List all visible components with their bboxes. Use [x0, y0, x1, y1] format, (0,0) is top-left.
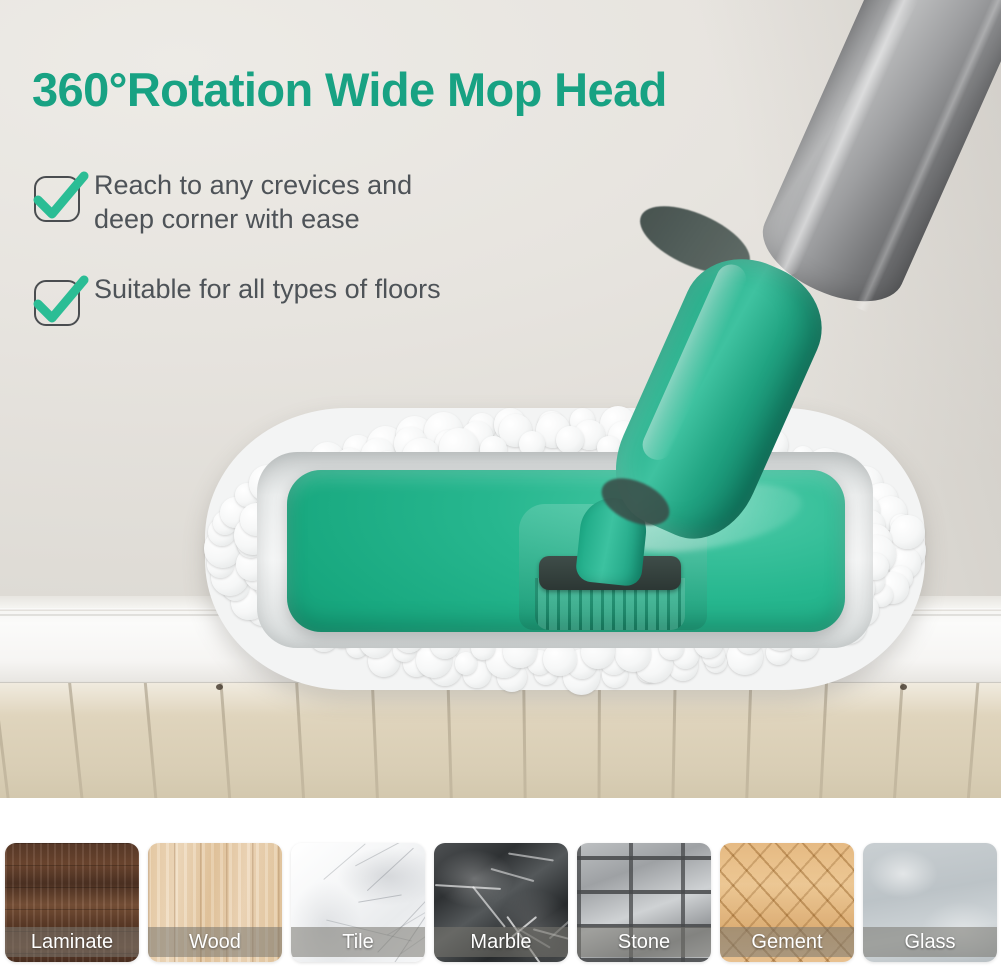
list-item: Suitable for all types of floors [30, 272, 590, 328]
surface-swatch-stone: Stone [577, 843, 711, 962]
swatch-label-bar: Glass [863, 927, 997, 957]
list-item: Reach to any crevices and deep corner wi… [30, 168, 590, 236]
chenille-tuft [556, 426, 584, 454]
list-item-label: Suitable for all types of floors [94, 272, 441, 306]
marble-vein [367, 848, 414, 891]
surface-swatch-marble: Marble [434, 843, 568, 962]
floor-plank-seam [597, 683, 601, 798]
mop-head-plate [287, 470, 845, 632]
swatch-label: Wood [189, 931, 241, 954]
marble-vein [472, 886, 506, 928]
wood-floor [0, 683, 1001, 798]
marble-vein [508, 852, 554, 861]
marble-vein [435, 885, 500, 890]
surface-swatch-glass: Glass [863, 843, 997, 962]
surface-swatch-wood: Wood [148, 843, 282, 962]
swatch-label: Glass [904, 931, 955, 954]
marble-vein [358, 894, 402, 902]
swatch-row: LaminateWoodTileMarbleStoneGementGlass [5, 843, 997, 962]
surface-swatch-tile: Tile [291, 843, 425, 962]
page-title: 360°Rotation Wide Mop Head [32, 62, 667, 117]
mop-pad-assembly [205, 408, 925, 690]
list-item-label: Reach to any crevices and deep corner wi… [94, 168, 412, 236]
surface-swatch-gement: Gement [720, 843, 854, 962]
swatch-label: Laminate [31, 931, 113, 954]
feature-bullet-list: Reach to any crevices and deep corner wi… [30, 168, 590, 364]
check-mark-icon [30, 170, 90, 226]
swatch-label-bar: Wood [148, 927, 282, 957]
product-photo-scene: 360°Rotation Wide Mop Head Reach to any … [0, 0, 1001, 798]
chenille-tuft [890, 515, 925, 550]
chenille-pad [205, 408, 925, 690]
swatch-label: Stone [618, 931, 670, 954]
check-mark-icon [30, 274, 90, 330]
product-feature-image: 360°Rotation Wide Mop Head Reach to any … [0, 0, 1001, 978]
marble-vein [491, 868, 535, 882]
swatch-label-bar: Marble [434, 927, 568, 957]
swatch-label: Gement [751, 931, 822, 954]
checkbox-check-icon [30, 274, 84, 328]
marble-vein [356, 843, 407, 867]
surface-swatch-strip: LaminateWoodTileMarbleStoneGementGlass [0, 798, 1001, 978]
swatch-label: Marble [470, 931, 531, 954]
swatch-label-bar: Stone [577, 927, 711, 957]
swatch-label: Tile [342, 931, 373, 954]
surface-swatch-laminate: Laminate [5, 843, 139, 962]
swatch-label-bar: Gement [720, 927, 854, 957]
swatch-label-bar: Tile [291, 927, 425, 957]
swatch-label-bar: Laminate [5, 927, 139, 957]
checkbox-check-icon [30, 170, 84, 224]
